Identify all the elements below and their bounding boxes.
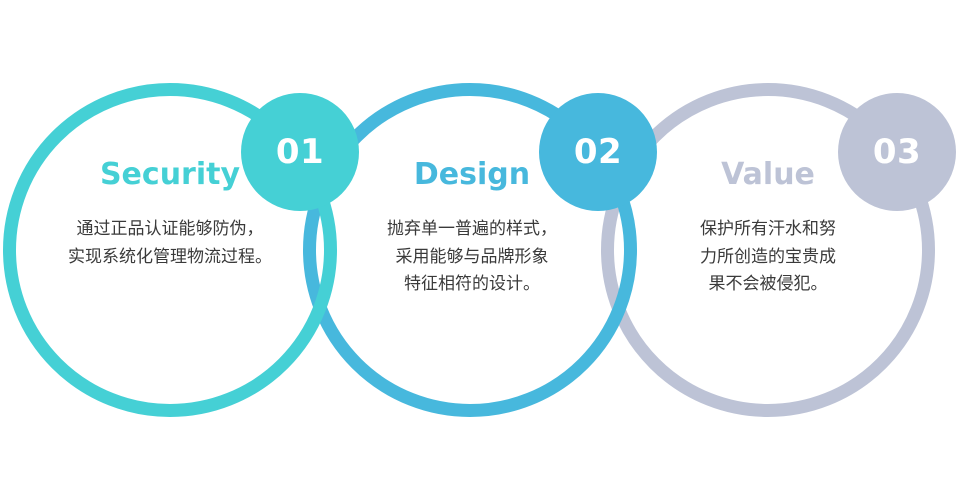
step-1: 01 Security 通过正品认证能够防伪， 实现系统化管理物流过程。 (0, 0, 960, 500)
step-1-title: Security (22, 160, 318, 190)
step-1-content: Security 通过正品认证能够防伪， 实现系统化管理物流过程。 (22, 160, 318, 271)
infographic-canvas: 03 Value 保护所有汗水和努 力所创造的宝贵成 果不会被侵犯。 02 De… (0, 0, 960, 500)
step-1-description: 通过正品认证能够防伪， 实现系统化管理物流过程。 (22, 216, 318, 271)
